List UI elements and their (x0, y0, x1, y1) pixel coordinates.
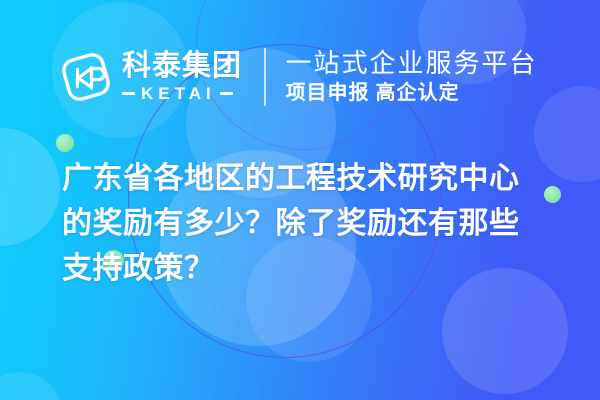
background-blob-bottom-left (0, 372, 62, 400)
background-blob-top-left (0, 128, 60, 246)
accent-dot-left (56, 134, 74, 152)
logo-rule-right-icon (220, 92, 233, 95)
headline-line-2: 的奖励有多少？除了奖励还有那些 (62, 201, 562, 246)
promo-banner: 科泰集团 KETAI 一站式企业服务平台 项目申报 高企认定 广东省各地区的工程… (0, 0, 600, 400)
tagline-group: 一站式企业服务平台 项目申报 高企认定 (286, 49, 538, 105)
headline-block: 广东省各地区的工程技术研究中心 的奖励有多少？除了奖励还有那些 支持政策？ (62, 156, 562, 291)
headline-line-1: 广东省各地区的工程技术研究中心 (62, 156, 562, 201)
logo-name-cn: 科泰集团 (122, 52, 242, 82)
tagline-main: 一站式企业服务平台 (286, 49, 538, 78)
headline-line-3: 支持政策？ (62, 246, 562, 291)
tagline-sub: 项目申报 高企认定 (286, 82, 538, 105)
logo-rule-left-icon (122, 92, 135, 95)
logo-name-en: KETAI (141, 85, 216, 102)
logo-wordmark: 科泰集团 KETAI (122, 52, 242, 102)
banner-header: 科泰集团 KETAI 一站式企业服务平台 项目申报 高企认定 (58, 44, 538, 110)
ketai-monogram-icon (58, 49, 114, 105)
logo-name-en-row: KETAI (122, 85, 242, 102)
header-divider (264, 48, 266, 106)
